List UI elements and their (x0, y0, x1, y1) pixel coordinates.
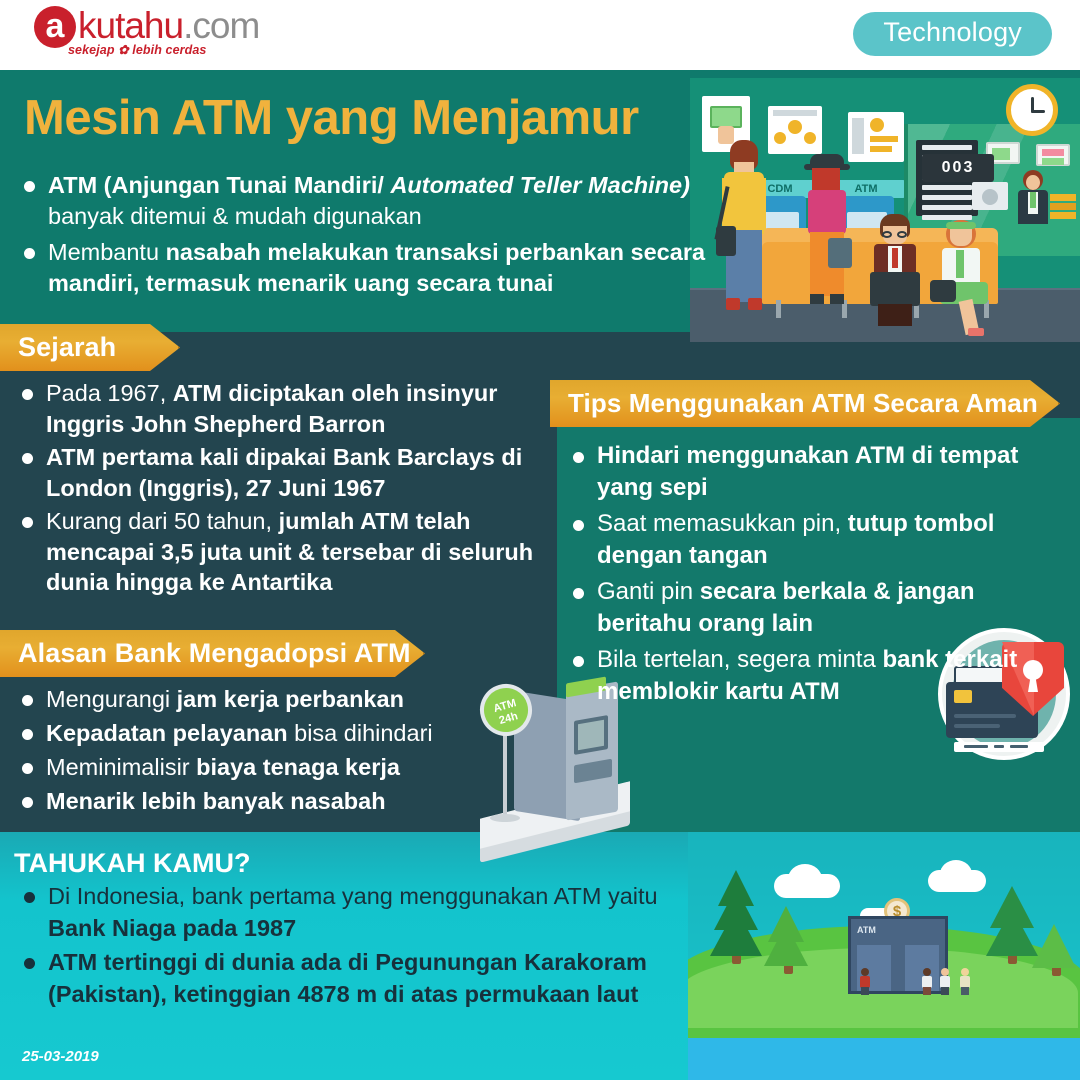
wall-clock-icon (1006, 84, 1058, 136)
alasan-bullet-2: Kepadatan pelayanan bisa dihindari (12, 716, 492, 750)
site-logo[interactable]: a kutahu.com sekejap ✿ lebih cerdas (34, 6, 259, 62)
intro-bullet-list: ATM (Anjungan Tunai Mandiri/ Automated T… (16, 170, 716, 304)
person-figure (960, 968, 970, 994)
cloud-icon (940, 860, 972, 888)
customer-seated-woman (934, 220, 994, 336)
intro-bullet-1-part1: ATM (Anjungan Tunai Mandiri/ (48, 172, 390, 198)
sejarah-heading-text: Sejarah (18, 332, 116, 362)
sejarah-bullet-2-bold: ATM pertama kali dipakai Bank Barclays d… (46, 444, 522, 501)
tahukah-heading: TAHUKAH KAMU? (14, 848, 250, 879)
tips-bullet-3-plain: Ganti pin (597, 578, 700, 605)
alasan-bullet-1-bold: jam kerja perbankan (177, 686, 404, 712)
queue-number-display: 003 (922, 154, 994, 182)
card-line (954, 724, 1000, 728)
page-header: a kutahu.com sekejap ✿ lebih cerdas Tech… (0, 0, 1080, 70)
alasan-heading-ribbon: Alasan Bank Mengadopsi ATM (0, 630, 425, 677)
sofa-leg (776, 300, 781, 318)
intro-bullet-2: Membantu nasabah melakukan transaksi per… (16, 237, 716, 299)
page-title: Mesin ATM yang Menjamur (24, 90, 704, 146)
tips-bullet-2-plain: Saat memasukkan pin, (597, 510, 848, 537)
tahukah-bullet-2-bold: ATM tertinggi di dunia ada di Pegunungan… (48, 949, 647, 1007)
tips-bullet-1: Hindari menggunakan ATM di tempat yang s… (563, 440, 1063, 504)
customer-standing-pink (802, 154, 852, 330)
alasan-bullet-2-bold: Kepadatan pelayanan (46, 720, 288, 746)
tips-heading-text: Tips Menggunakan ATM Secara Aman (568, 388, 1038, 418)
tips-bullet-1-bold: Hindari menggunakan ATM di tempat yang s… (597, 442, 1018, 501)
logo-tagline: sekejap ✿ lebih cerdas (68, 42, 206, 57)
alasan-bullet-4: Menarik lebih banyak nasabah (12, 784, 492, 818)
wall-note-pink (1036, 144, 1070, 166)
alasan-bullet-4-bold: Menarik lebih banyak nasabah (46, 788, 386, 814)
category-badge[interactable]: Technology (853, 12, 1052, 56)
logo-wordmark: kutahu.com (78, 6, 259, 46)
sejarah-bullet-1-plain: Pada 1967, (46, 380, 173, 406)
alasan-bullet-3-bold: biaya tenaga kerja (196, 754, 400, 780)
outdoor-atm-illustration: $ ATM (688, 832, 1080, 1080)
sejarah-bullet-3-plain: Kurang dari 50 tahun, (46, 508, 279, 534)
sejarah-bullet-1: Pada 1967, ATM diciptakan oleh insinyur … (12, 378, 560, 439)
alasan-bullet-3: Meminimalisir biaya tenaga kerja (12, 750, 492, 784)
card-bottom-bar (954, 742, 1044, 752)
alasan-bullet-3-plain: Meminimalisir (46, 754, 196, 780)
pine-tree (1032, 924, 1076, 968)
pine-tree (718, 870, 754, 906)
cloud-icon (788, 864, 822, 894)
sejarah-bullet-3: Kurang dari 50 tahun, jumlah ATM telah m… (12, 506, 560, 598)
kiosk-screen (578, 720, 604, 751)
pine-tree (768, 906, 804, 942)
infographic-page: a kutahu.com sekejap ✿ lebih cerdas Tech… (0, 0, 1080, 1080)
tips-bullet-4-plain: Bila tertelan, segera minta (597, 646, 882, 673)
tips-bullet-4: Bila tertelan, segera minta bank terkait… (563, 644, 1063, 708)
tips-bullet-3: Ganti pin secara berkala & jangan berita… (563, 576, 1063, 640)
publish-date: 25-03-2019 (22, 1048, 99, 1065)
booth-label: ATM (857, 925, 876, 935)
teller-monitor (972, 182, 1008, 210)
tips-bullet-2: Saat memasukkan pin, tutup tombol dengan… (563, 508, 1063, 572)
tahukah-bullet-list: Di Indonesia, bank pertama yang mengguna… (14, 880, 714, 1012)
alasan-bullet-1: Mengurangi jam kerja perbankan (12, 682, 492, 716)
customer-standing-yellow (718, 140, 770, 330)
sejarah-bullet-list: Pada 1967, ATM diciptakan oleh insinyur … (12, 378, 560, 601)
logo-main-text: kutahu (78, 5, 183, 46)
poster-coins-icon (848, 112, 904, 162)
alasan-bullet-2-tail: bisa dihindari (288, 720, 433, 746)
tahukah-bullet-1: Di Indonesia, bank pertama yang mengguna… (14, 880, 714, 944)
intro-bullet-1-part3: banyak ditemui & mudah digunakan (48, 203, 422, 229)
kiosk-pole-base (490, 814, 520, 822)
person-figure (940, 968, 950, 994)
person-figure (860, 968, 870, 994)
logo-dotcom-text: .com (183, 5, 259, 46)
alasan-bullet-list: Mengurangi jam kerja perbankan Kepadatan… (12, 682, 492, 818)
tahukah-bullet-2: ATM tertinggi di dunia ada di Pegunungan… (14, 946, 714, 1010)
alasan-bullet-1-plain: Mengurangi (46, 686, 177, 712)
bank-interior-illustration: CDM ATM (690, 78, 1080, 342)
card-line (954, 714, 1016, 718)
customer-seated-businessman (866, 214, 924, 330)
sejarah-heading-ribbon: Sejarah (0, 324, 180, 371)
tips-bullet-list: Hindari menggunakan ATM di tempat yang s… (563, 440, 1063, 712)
tips-heading-ribbon: Tips Menggunakan ATM Secara Aman (550, 380, 1060, 427)
tahukah-bullet-1-plain: Di Indonesia, bank pertama yang mengguna… (48, 883, 658, 909)
sejarah-bullet-2: ATM pertama kali dipakai Bank Barclays d… (12, 442, 560, 503)
pine-tree (990, 886, 1034, 928)
gold-bars (1050, 194, 1076, 220)
person-figure (922, 968, 932, 994)
intro-bullet-2-part1: Membantu (48, 239, 166, 265)
tahukah-bullet-1-bold: Bank Niaga pada 1987 (48, 915, 296, 941)
intro-bullet-1-italic: Automated Teller Machine) (390, 172, 689, 198)
intro-bullet-1: ATM (Anjungan Tunai Mandiri/ Automated T… (16, 170, 716, 232)
teller-clerk (1016, 170, 1050, 232)
alasan-heading-text: Alasan Bank Mengadopsi ATM (18, 638, 411, 668)
poster-transfer-icon (768, 106, 822, 154)
